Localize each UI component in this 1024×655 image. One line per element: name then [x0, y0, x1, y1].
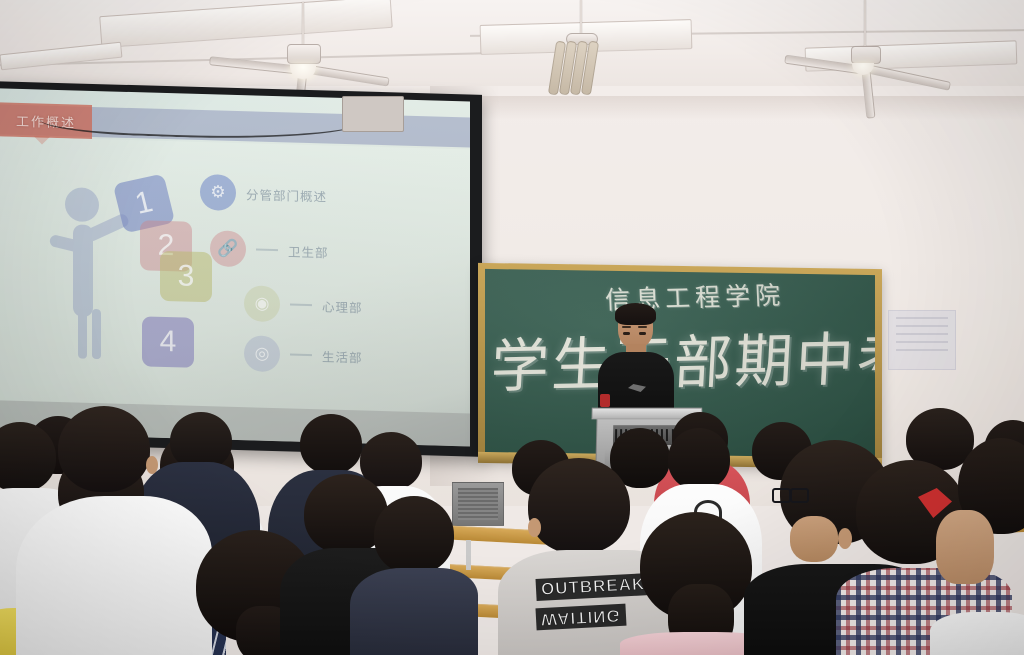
- wall-molding: [470, 96, 1024, 120]
- fan-rod: [864, 0, 866, 48]
- presenter-brow: [638, 326, 647, 328]
- bullet-dash: [290, 303, 312, 306]
- audience-students: OUTBREAK WAITING: [0, 400, 1024, 655]
- slide-bullet-1: ⚙ 分管部门概述: [200, 174, 327, 214]
- presenter-hair: [615, 303, 656, 325]
- head: [374, 496, 454, 574]
- shirt-text-line2: WAITING: [535, 604, 626, 631]
- presenter-eye: [639, 332, 646, 335]
- head: [300, 414, 362, 474]
- chart-icon: ◉: [244, 285, 280, 322]
- projector-bracket: [342, 96, 404, 132]
- torso: [16, 496, 212, 655]
- ceiling-fan-left: [287, 44, 321, 64]
- slide-bullet-4: ◎ 生活部: [244, 335, 363, 374]
- slide-bullet-4-text: 生活部: [322, 346, 363, 366]
- presenter-eye: [623, 332, 630, 335]
- ear: [146, 456, 158, 474]
- ceiling-fan-right: [851, 46, 881, 64]
- head: [58, 406, 150, 492]
- bullet-dash: [256, 249, 278, 252]
- slide-bullet-3: ◉ 心理部: [244, 285, 363, 324]
- slide-tile-4: 4: [142, 316, 194, 367]
- gear-icon: ⚙: [200, 174, 236, 211]
- slide-bullet-3-text: 心理部: [322, 296, 363, 316]
- fan-rod: [302, 2, 304, 46]
- slide-bullet-2-text: 卫生部: [288, 241, 329, 261]
- target-icon: ◎: [244, 335, 280, 372]
- hand: [936, 510, 994, 584]
- chalkboard-main-text: 学生干部期中考核: [489, 310, 875, 404]
- head: [668, 428, 730, 490]
- ear: [838, 528, 852, 549]
- wall-notice-poster: [888, 310, 956, 370]
- presenter-brow: [622, 326, 631, 328]
- classroom-scene: 工作概述 1 2 3 4 ⚙ 分管部门概述 🔗: [0, 0, 1024, 655]
- fan-rod: [580, 0, 582, 36]
- head: [528, 458, 630, 554]
- torso: [930, 612, 1024, 655]
- ear: [528, 518, 541, 537]
- slide-bullet-1-text: 分管部门概述: [246, 184, 327, 205]
- bullet-dash: [290, 353, 312, 356]
- face-profile: [790, 516, 838, 562]
- slide-bullet-2: 🔗 卫生部: [210, 230, 329, 269]
- link-icon: 🔗: [210, 230, 246, 267]
- slide-tile-3: 3: [160, 251, 212, 302]
- torso: [350, 568, 478, 655]
- projection-screen-surface: 工作概述 1 2 3 4 ⚙ 分管部门概述 🔗: [0, 88, 470, 446]
